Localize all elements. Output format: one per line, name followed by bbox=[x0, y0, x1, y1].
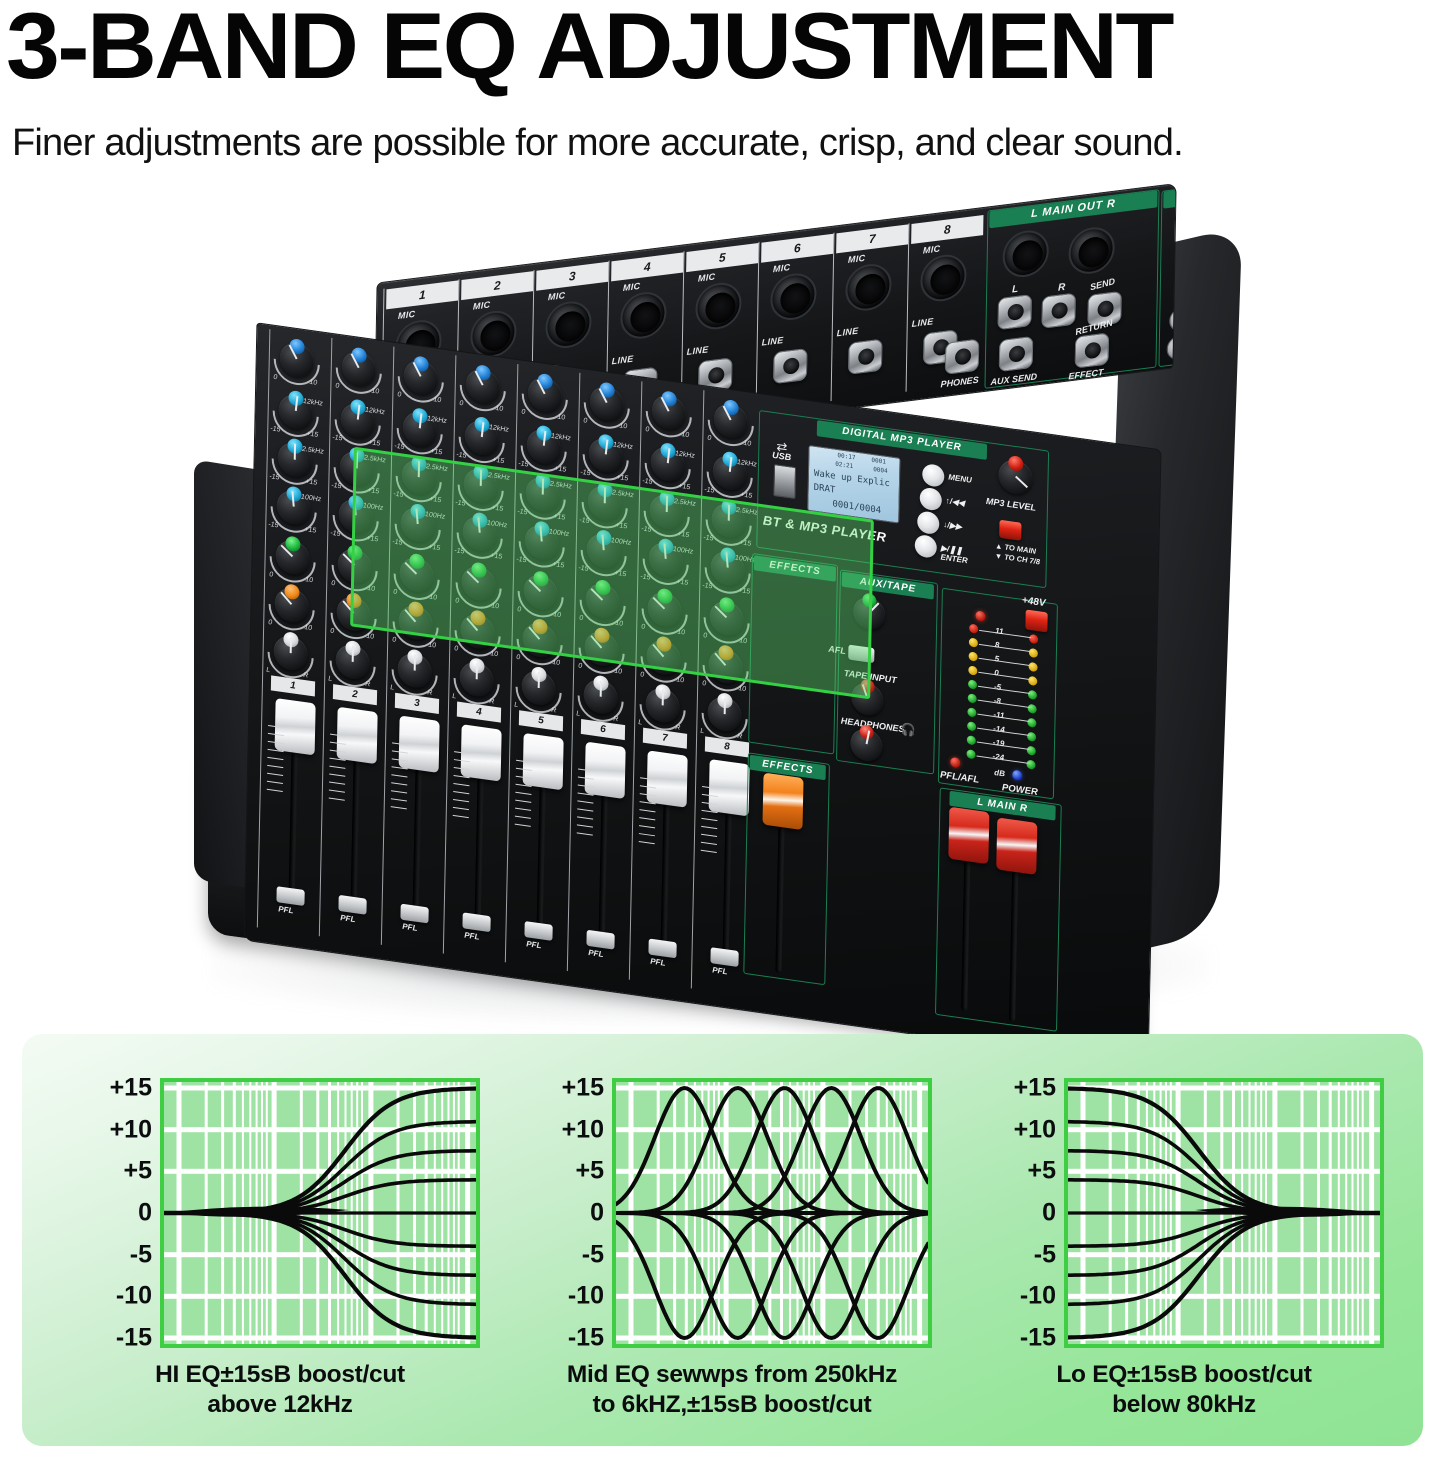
mp3-lcd-screen: 00:17 0001 02:21 0004 Wake up Explic DRA… bbox=[807, 445, 900, 524]
axis-tick-+5: +5 bbox=[964, 1159, 1056, 1184]
pan-right-label: R bbox=[489, 698, 494, 706]
knob-min-label: 0 bbox=[335, 382, 339, 390]
knob-min-label: 0 bbox=[273, 374, 277, 382]
eq-max-label: +15 bbox=[552, 561, 564, 570]
channel-tab-4: 4 bbox=[457, 702, 501, 723]
knob-max-label: 10 bbox=[615, 620, 623, 628]
channel-tab-7: 7 bbox=[643, 728, 687, 749]
knob-max-label: 10 bbox=[619, 422, 627, 430]
knob-arc bbox=[264, 330, 329, 395]
ctrl-room-section-box bbox=[1158, 183, 1176, 367]
eq-max-label: +15 bbox=[304, 526, 316, 535]
eq-min-label: -15 bbox=[578, 565, 588, 573]
eq-max-label: +15 bbox=[306, 430, 318, 439]
pan-left-label: L bbox=[390, 684, 394, 692]
page-title: 3-BAND EQ ADJUSTMENT bbox=[6, 0, 1445, 100]
eq-min-label: -15 bbox=[641, 525, 651, 533]
label-r: R bbox=[1058, 282, 1065, 294]
rear-channel-number: 2 bbox=[461, 271, 533, 300]
mic-label: MIC bbox=[473, 299, 491, 311]
eq-max-label: +15 bbox=[368, 439, 380, 448]
knob-min-label: 0 bbox=[397, 391, 401, 399]
mixer-product-photo: 1MICLINE2MICLINE3MICLINE4MICLINE5MICLINE… bbox=[150, 205, 1270, 1025]
eq-max-label: +15 bbox=[740, 491, 752, 500]
axis-tick-+5: +5 bbox=[60, 1159, 152, 1184]
knob-min-label: 0 bbox=[455, 597, 459, 605]
knob-arc bbox=[508, 562, 573, 627]
meter-led-right--14 bbox=[1027, 732, 1036, 742]
main-out-jack-l[interactable] bbox=[997, 294, 1032, 330]
lcd-track-total: 0001 bbox=[871, 457, 886, 466]
channel-tab-6: 6 bbox=[581, 719, 625, 740]
meter-scale-8: 8 bbox=[995, 640, 1000, 650]
page-subtitle: Finer adjustments are possible for more … bbox=[12, 122, 1442, 165]
meter-led-right--19 bbox=[1027, 746, 1036, 756]
pfl-button-ch6[interactable] bbox=[586, 930, 614, 950]
axis-tick-+15: +15 bbox=[964, 1076, 1056, 1101]
knob-min-label: 0 bbox=[516, 654, 520, 662]
axis-tick--5: -5 bbox=[512, 1242, 604, 1267]
axis-tick-+10: +10 bbox=[964, 1117, 1056, 1142]
knob-arc bbox=[632, 579, 697, 644]
meter-led-left--5 bbox=[968, 679, 977, 689]
lcd-track-sub: DRAT bbox=[814, 483, 836, 496]
axis-tick-0: 0 bbox=[60, 1201, 152, 1226]
knob-min-label: 0 bbox=[579, 615, 583, 623]
power-led bbox=[1012, 770, 1022, 781]
rear-channel-number: 4 bbox=[611, 252, 683, 281]
meter-led-right--24 bbox=[1026, 760, 1035, 770]
meter-led-right--8 bbox=[1028, 704, 1037, 714]
axis-tick--5: -5 bbox=[60, 1242, 152, 1267]
phones-jack[interactable] bbox=[945, 339, 980, 375]
knob-max-label: 10 bbox=[309, 379, 317, 387]
meter-led-left--19 bbox=[967, 735, 976, 745]
meter-led-right--11 bbox=[1027, 718, 1036, 728]
knob-arc bbox=[445, 601, 510, 666]
line-label: LINE bbox=[687, 344, 709, 357]
pfl-button-ch7[interactable] bbox=[648, 938, 676, 958]
aux-send-jack[interactable] bbox=[999, 336, 1034, 372]
eq-min-label: -15 bbox=[640, 573, 650, 581]
meter-led-right-5 bbox=[1028, 662, 1037, 672]
fader-scale-4 bbox=[453, 751, 471, 825]
meter-scale--8: -8 bbox=[994, 696, 1001, 706]
fader-scale-1 bbox=[267, 725, 285, 799]
knob-min-label: 0 bbox=[268, 619, 272, 627]
meter-led-right-0 bbox=[1028, 676, 1037, 686]
eq-min-label: -15 bbox=[332, 434, 342, 442]
eq-min-label: -15 bbox=[704, 486, 714, 494]
phantom-power-switch[interactable] bbox=[1025, 609, 1047, 632]
channel-tab-1: 1 bbox=[271, 675, 315, 696]
eq-min-label: -15 bbox=[703, 534, 713, 542]
meter-led-left-8 bbox=[969, 637, 978, 647]
knob-arc bbox=[383, 592, 448, 657]
line-label: LINE bbox=[912, 316, 934, 329]
lcd-track-index: 0004 bbox=[873, 466, 888, 475]
eq-card-hi: +15+10+50-5-10-15 HI EQ±15sB boost/cut a… bbox=[60, 1064, 500, 1424]
axis-tick--5: -5 bbox=[964, 1242, 1056, 1267]
mic-xlr-input-2[interactable] bbox=[470, 308, 517, 360]
eq-caption-lo-line2: below 80kHz bbox=[964, 1390, 1404, 1420]
knob-max-label: 10 bbox=[433, 396, 441, 404]
rear-channel-number: 8 bbox=[911, 215, 983, 244]
fader-scale-7 bbox=[639, 777, 657, 851]
eq-caption-hi: HI EQ±15sB boost/cut above 12kHz bbox=[60, 1360, 500, 1420]
eq-min-label: -15 bbox=[516, 556, 526, 564]
eq-min-label: -15 bbox=[394, 443, 404, 451]
knob-min-label: 0 bbox=[641, 623, 645, 631]
knob-max-label: 10 bbox=[743, 440, 751, 448]
knob-arc bbox=[387, 399, 452, 464]
pan-left-label: L bbox=[638, 719, 642, 727]
rear-channel-number: 3 bbox=[536, 262, 608, 291]
eq-graph-hi bbox=[160, 1078, 480, 1348]
eq-max-label: +15 bbox=[492, 456, 504, 465]
knob-min-label: 0 bbox=[454, 645, 458, 653]
knob-arc bbox=[636, 382, 701, 447]
meter-led-left--14 bbox=[967, 721, 976, 731]
pan-left-label: L bbox=[576, 710, 580, 718]
axis-tick--15: -15 bbox=[60, 1326, 152, 1351]
knob-arc bbox=[570, 571, 635, 636]
pan-left-label: L bbox=[514, 702, 518, 710]
knob-min-label: 0 bbox=[517, 606, 521, 614]
pan-right-label: R bbox=[737, 733, 742, 741]
meter-led-left-11 bbox=[969, 623, 978, 633]
knob-min-label: 0 bbox=[578, 663, 582, 671]
channel-tab-2: 2 bbox=[333, 684, 377, 705]
pfl-label-ch7: PFL bbox=[650, 957, 665, 968]
knob-arc bbox=[450, 356, 515, 421]
meter-unit-label: dB bbox=[994, 768, 1005, 778]
axis-tick-+15: +15 bbox=[60, 1076, 152, 1101]
lcd-counter: 0001/0004 bbox=[832, 499, 881, 516]
axis-tick--15: -15 bbox=[964, 1326, 1056, 1351]
pan-left-label: L bbox=[328, 675, 332, 683]
knob-arc bbox=[697, 442, 762, 507]
knob-arc bbox=[569, 618, 634, 683]
eq-caption-lo-line1: Lo EQ±15sB boost/cut bbox=[964, 1360, 1404, 1390]
pfl-button-ch1[interactable] bbox=[276, 886, 304, 906]
knob-min-label: 0 bbox=[393, 589, 397, 597]
rear-channel-number: 5 bbox=[686, 243, 758, 272]
knob-max-label: 10 bbox=[614, 668, 622, 676]
effect-jack[interactable] bbox=[1075, 332, 1110, 368]
front-control-surface: 01012kHz-15+152.5kHz-15+15100Hz-15+15010… bbox=[244, 322, 1162, 1067]
eq-caption-hi-line2: above 12kHz bbox=[60, 1390, 500, 1420]
eq-caption-lo: Lo EQ±15sB boost/cut below 80kHz bbox=[964, 1360, 1404, 1420]
meter-scale-5: 5 bbox=[995, 654, 1000, 664]
meter-scale--19: -19 bbox=[993, 738, 1005, 749]
knob-max-label: 10 bbox=[371, 387, 379, 395]
knob-arc bbox=[507, 610, 572, 675]
eq-max-label: +15 bbox=[367, 487, 379, 496]
meter-led-left--11 bbox=[967, 707, 976, 717]
effects-section-box bbox=[748, 553, 838, 755]
axis-tick-+10: +10 bbox=[60, 1117, 152, 1142]
line-label: LINE bbox=[762, 335, 784, 348]
knob-max-label: 10 bbox=[490, 650, 498, 658]
main-out-jack-r[interactable] bbox=[1041, 293, 1076, 329]
knob-arc bbox=[325, 390, 390, 455]
knob-max-label: 10 bbox=[681, 431, 689, 439]
eq-caption-mid-line1: Mid EQ sewwps from 250kHz bbox=[512, 1360, 952, 1390]
eq-max-label: +15 bbox=[491, 504, 503, 513]
pfl-button-ch4[interactable] bbox=[462, 912, 490, 932]
line-label: LINE bbox=[837, 326, 859, 339]
line-label: LINE bbox=[612, 354, 634, 367]
knob-max-label: 10 bbox=[304, 624, 312, 632]
eq-curves-panel: +15+10+50-5-10-15 HI EQ±15sB boost/cut a… bbox=[22, 1034, 1423, 1446]
knob-arc bbox=[511, 416, 576, 481]
knob-arc bbox=[574, 373, 639, 438]
eq-min-label: -15 bbox=[330, 530, 340, 538]
knob-max-label: 10 bbox=[553, 611, 561, 619]
eq-max-label: +15 bbox=[429, 496, 441, 505]
line-jack-input-6[interactable] bbox=[773, 348, 808, 384]
knob-arc bbox=[263, 381, 328, 446]
pan-right-label: R bbox=[551, 707, 556, 715]
eq-max-label: +15 bbox=[677, 530, 689, 539]
mic-label: MIC bbox=[398, 309, 416, 321]
mp3-routing-switch[interactable] bbox=[999, 520, 1021, 541]
eq-min-label: -15 bbox=[642, 478, 652, 486]
eq-min-label: -15 bbox=[517, 508, 527, 516]
knob-min-label: 0 bbox=[703, 632, 707, 640]
eq-min-label: -15 bbox=[268, 521, 278, 529]
axis-tick-+15: +15 bbox=[512, 1076, 604, 1101]
label-l: L bbox=[1012, 284, 1018, 296]
effects-fader[interactable] bbox=[762, 773, 803, 830]
knob-min-label: 0 bbox=[521, 409, 525, 417]
channel-tab-3: 3 bbox=[395, 693, 439, 714]
knob-min-label: 0 bbox=[392, 636, 396, 644]
mixer-body: 1MICLINE2MICLINE3MICLINE4MICLINE5MICLINE… bbox=[180, 215, 1240, 1005]
eq-graph-lo bbox=[1064, 1078, 1384, 1348]
knob-min-label: 0 bbox=[640, 671, 644, 679]
main-fader-right[interactable] bbox=[996, 817, 1037, 874]
rear-channel-number: 6 bbox=[761, 234, 833, 263]
eq-max-label: +15 bbox=[616, 474, 628, 483]
knob-arc bbox=[512, 364, 577, 429]
mic-label: MIC bbox=[623, 281, 641, 293]
knob-min-label: 0 bbox=[459, 400, 463, 408]
meter-led-left-0 bbox=[968, 665, 977, 675]
pfl-label-ch2: PFL bbox=[340, 913, 355, 924]
mic-xlr-input-3[interactable] bbox=[545, 299, 592, 351]
knob-arc bbox=[321, 584, 386, 649]
meter-scale-11: 11 bbox=[995, 626, 1004, 636]
line-jack-input-7[interactable] bbox=[848, 339, 883, 375]
pan-right-label: R bbox=[675, 724, 680, 732]
axis-tick--10: -10 bbox=[512, 1284, 604, 1309]
knob-max-label: 10 bbox=[367, 585, 375, 593]
eq-caption-mid-line2: to 6kHZ,±15sB boost/cut bbox=[512, 1390, 952, 1420]
knob-min-label: 0 bbox=[331, 580, 335, 588]
knob-arc bbox=[698, 391, 763, 456]
knob-max-label: 10 bbox=[305, 576, 313, 584]
pan-right-label: R bbox=[365, 681, 370, 689]
eq-max-label: +15 bbox=[554, 465, 566, 474]
knob-max-label: 10 bbox=[366, 633, 374, 641]
pan-right-label: R bbox=[427, 689, 432, 697]
usb-port[interactable] bbox=[773, 464, 796, 499]
knob-min-label: 0 bbox=[702, 680, 706, 688]
pan-left-label: L bbox=[266, 667, 270, 675]
pfl-afl-led bbox=[950, 757, 960, 768]
eq-graph-mid bbox=[612, 1078, 932, 1348]
pfl-label-ch6: PFL bbox=[588, 948, 603, 959]
meter-scale-0: 0 bbox=[994, 668, 999, 678]
fader-scale-5 bbox=[515, 760, 533, 834]
axis-tick-+10: +10 bbox=[512, 1117, 604, 1142]
pfl-label-ch3: PFL bbox=[402, 922, 417, 933]
eq-min-label: -15 bbox=[454, 547, 464, 555]
lcd-time-right: 02:21 bbox=[835, 461, 853, 471]
pan-left-label: L bbox=[700, 728, 704, 736]
mic-label: MIC bbox=[923, 243, 941, 255]
meter-led-right-11 bbox=[1029, 634, 1038, 644]
rear-channel-number: 1 bbox=[386, 280, 458, 309]
header: 3-BAND EQ ADJUSTMENT Finer adjustments a… bbox=[0, 0, 1445, 190]
fader-scale-6 bbox=[577, 769, 595, 843]
knob-arc bbox=[449, 408, 514, 473]
infographic-page: 3-BAND EQ ADJUSTMENT Finer adjustments a… bbox=[0, 0, 1445, 1461]
knob-max-label: 10 bbox=[739, 637, 747, 645]
meter-led-right--5 bbox=[1028, 690, 1037, 700]
knob-min-label: 0 bbox=[583, 417, 587, 425]
eq-card-lo: +15+10+50-5-10-15 Lo EQ±15sB boost/cut b… bbox=[964, 1064, 1404, 1424]
meter-scale--5: -5 bbox=[994, 682, 1001, 692]
rear-channel-7: 7MICLINE bbox=[831, 223, 910, 401]
knob-max-label: 10 bbox=[429, 594, 437, 602]
eq-max-label: +15 bbox=[676, 578, 688, 587]
meter-led-left--24 bbox=[966, 749, 975, 759]
knob-max-label: 10 bbox=[557, 414, 565, 422]
knob-arc bbox=[631, 627, 696, 692]
knob-max-label: 10 bbox=[428, 641, 436, 649]
axis-tick--15: -15 bbox=[512, 1326, 604, 1351]
mic-label: MIC bbox=[773, 262, 791, 274]
pan-right-label: R bbox=[303, 672, 308, 680]
meter-led-right-8 bbox=[1029, 648, 1038, 658]
axis-tick-0: 0 bbox=[512, 1201, 604, 1226]
rear-channel-number: 7 bbox=[836, 224, 908, 253]
knob-min-label: 0 bbox=[330, 628, 334, 636]
channel-tab-8: 8 bbox=[705, 736, 749, 757]
meter-scale--14: -14 bbox=[993, 724, 1005, 735]
pfl-button-ch8[interactable] bbox=[710, 947, 738, 967]
mic-xlr-input-8[interactable] bbox=[920, 252, 967, 304]
meter-scale--24: -24 bbox=[992, 752, 1004, 763]
knob-arc bbox=[573, 425, 638, 490]
axis-tick--10: -10 bbox=[60, 1284, 152, 1309]
eq-max-label: +15 bbox=[615, 522, 627, 531]
knob-max-label: 10 bbox=[738, 685, 746, 693]
eq-min-label: -15 bbox=[455, 499, 465, 507]
eq-max-label: +15 bbox=[678, 483, 690, 492]
mic-xlr-input-5[interactable] bbox=[695, 280, 742, 332]
eq-caption-mid: Mid EQ sewwps from 250kHz to 6kHZ,±15sB … bbox=[512, 1360, 952, 1420]
knob-min-label: 0 bbox=[269, 571, 273, 579]
knob-arc bbox=[260, 527, 325, 592]
channel-tab-5: 5 bbox=[519, 710, 563, 731]
knob-max-label: 10 bbox=[495, 405, 503, 413]
knob-arc bbox=[259, 575, 324, 640]
knob-max-label: 10 bbox=[676, 676, 684, 684]
fader-scale-3 bbox=[391, 742, 409, 816]
lcd-time-left: 00:17 bbox=[837, 452, 855, 462]
mic-label: MIC bbox=[698, 271, 716, 283]
headphones-icon: 🎧 bbox=[901, 722, 916, 738]
knob-min-label: 0 bbox=[645, 426, 649, 434]
pfl-button-ch2[interactable] bbox=[338, 895, 366, 915]
eq-min-label: -15 bbox=[580, 469, 590, 477]
meter-led-left--8 bbox=[968, 693, 977, 703]
pfl-button-ch3[interactable] bbox=[400, 904, 428, 924]
eq-max-label: +15 bbox=[366, 535, 378, 544]
eq-min-label: -15 bbox=[270, 425, 280, 433]
mic-xlr-input-6[interactable] bbox=[770, 271, 817, 323]
pfl-label-ch1: PFL bbox=[278, 904, 293, 915]
pfl-label-ch4: PFL bbox=[464, 931, 479, 942]
eq-min-label: -15 bbox=[392, 538, 402, 546]
pfl-label-ch8: PFL bbox=[712, 965, 727, 976]
knob-max-label: 10 bbox=[552, 659, 560, 667]
axis-tick-0: 0 bbox=[964, 1201, 1056, 1226]
pfl-button-ch5[interactable] bbox=[524, 921, 552, 941]
eq-max-label: +15 bbox=[738, 587, 750, 596]
eq-max-label: +15 bbox=[614, 570, 626, 579]
knob-max-label: 10 bbox=[491, 602, 499, 610]
knob-arc bbox=[326, 338, 391, 403]
eq-max-label: +15 bbox=[739, 539, 751, 548]
knob-arc bbox=[388, 347, 453, 412]
eq-max-label: +15 bbox=[428, 543, 440, 552]
eq-max-label: +15 bbox=[553, 513, 565, 522]
mic-xlr-input-7[interactable] bbox=[845, 261, 892, 313]
pan-left-label: L bbox=[452, 693, 456, 701]
main-fader-left[interactable] bbox=[948, 807, 989, 864]
fader-scale-8 bbox=[701, 786, 719, 860]
knob-min-label: 0 bbox=[707, 435, 711, 443]
knob-arc bbox=[635, 434, 700, 499]
eq-max-label: +15 bbox=[430, 448, 442, 457]
phantom-power-led bbox=[975, 610, 985, 621]
knob-arc bbox=[322, 536, 387, 601]
axis-tick--10: -10 bbox=[964, 1284, 1056, 1309]
mic-label: MIC bbox=[548, 290, 566, 302]
eq-min-label: -15 bbox=[518, 460, 528, 468]
eq-max-label: +15 bbox=[305, 478, 317, 487]
meter-led-left-5 bbox=[969, 651, 978, 661]
knob-arc bbox=[446, 553, 511, 618]
eq-max-label: +15 bbox=[490, 552, 502, 561]
knob-max-label: 10 bbox=[677, 628, 685, 636]
eq-min-label: -15 bbox=[579, 517, 589, 525]
knob-arc bbox=[384, 544, 449, 609]
eq-card-mid: +15+10+50-5-10-15 Mid EQ sewwps from 250… bbox=[512, 1064, 952, 1424]
eq-min-label: -15 bbox=[393, 491, 403, 499]
eq-min-label: -15 bbox=[269, 473, 279, 481]
eq-caption-hi-line1: HI EQ±15sB boost/cut bbox=[60, 1360, 500, 1390]
pan-right-label: R bbox=[613, 715, 618, 723]
fader-scale-2 bbox=[329, 734, 347, 808]
meter-scale--11: -11 bbox=[993, 710, 1004, 721]
mic-xlr-input-4[interactable] bbox=[620, 289, 667, 341]
